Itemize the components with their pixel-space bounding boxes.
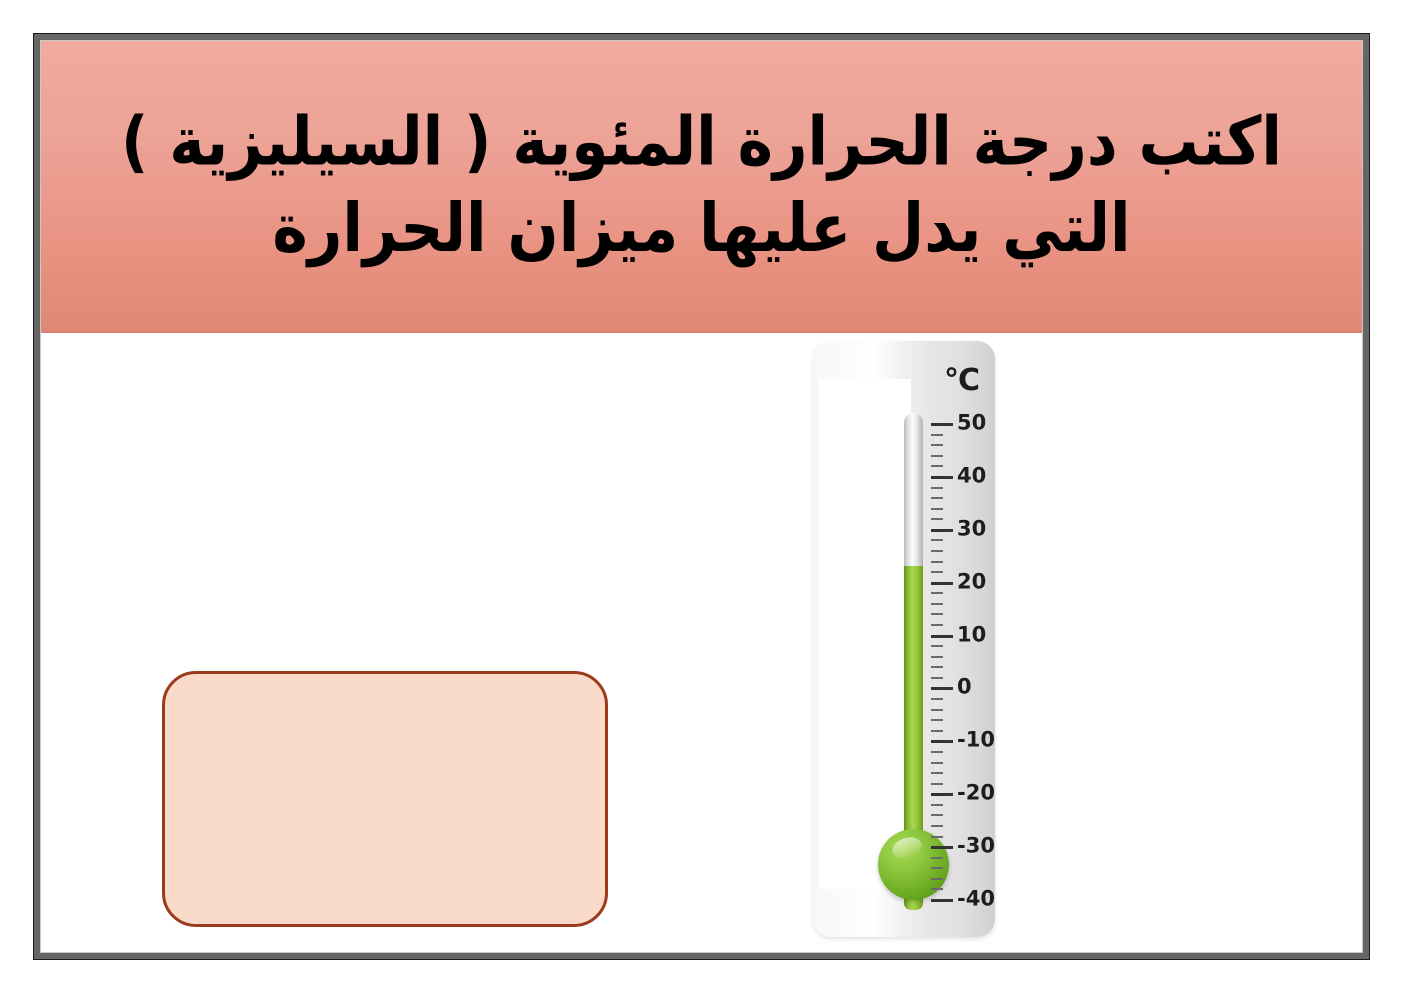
scale-tick-major bbox=[931, 687, 953, 690]
scale-tick-minor bbox=[931, 603, 943, 605]
scale-tick-minor bbox=[931, 645, 943, 647]
scale-tick-major bbox=[931, 476, 953, 479]
scale-tick-minor bbox=[931, 539, 943, 541]
scale-label: 50 bbox=[957, 411, 986, 435]
scale-tick-major bbox=[931, 899, 953, 902]
scale-tick-minor bbox=[931, 561, 943, 563]
scale-tick-minor bbox=[931, 444, 943, 446]
scale-tick-major bbox=[931, 529, 953, 532]
scale-tick-minor bbox=[931, 719, 943, 721]
celsius-unit-label: °C bbox=[944, 363, 979, 398]
scale-tick-minor bbox=[931, 656, 943, 658]
scale-tick-minor bbox=[931, 613, 943, 615]
scale-label: -10 bbox=[957, 728, 995, 752]
scale-tick-minor bbox=[931, 624, 943, 626]
scale-tick-major bbox=[931, 635, 953, 638]
slide-canvas: اكتب درجة الحرارة المئوية ( السيليزية ) … bbox=[40, 40, 1363, 953]
scale-tick-minor bbox=[931, 518, 943, 520]
bulb-highlight bbox=[890, 834, 925, 862]
thermometer-body-panel bbox=[819, 379, 911, 889]
scale-label: 20 bbox=[957, 569, 986, 593]
scale-label: -20 bbox=[957, 781, 995, 805]
scale-tick-minor bbox=[931, 888, 943, 890]
scale-tick-minor bbox=[931, 814, 943, 816]
scale-tick-minor bbox=[931, 508, 943, 510]
answer-input-box[interactable] bbox=[162, 671, 608, 927]
scale-tick-minor bbox=[931, 455, 943, 457]
scale-tick-minor bbox=[931, 497, 943, 499]
scale-tick-minor bbox=[931, 550, 943, 552]
scale-tick-minor bbox=[931, 804, 943, 806]
scale-tick-minor bbox=[931, 571, 943, 573]
answer-box-value bbox=[165, 674, 605, 924]
scale-tick-minor bbox=[931, 751, 943, 753]
header-banner: اكتب درجة الحرارة المئوية ( السيليزية ) … bbox=[41, 41, 1362, 333]
scale-tick-minor bbox=[931, 592, 943, 594]
scale-tick-minor bbox=[931, 434, 943, 436]
scale-label: 10 bbox=[957, 622, 986, 646]
slide-frame: اكتب درجة الحرارة المئوية ( السيليزية ) … bbox=[33, 33, 1370, 960]
page-title: اكتب درجة الحرارة المئوية ( السيليزية ) … bbox=[41, 100, 1362, 272]
scale-tick-minor bbox=[931, 730, 943, 732]
scale-tick-minor bbox=[931, 867, 943, 869]
scale-tick-major bbox=[931, 423, 953, 426]
scale-tick-minor bbox=[931, 783, 943, 785]
scale-label: 40 bbox=[957, 463, 986, 487]
thermometer-illustration: °C 50403020100-10-20-30-40 bbox=[813, 341, 995, 937]
scale-label: 30 bbox=[957, 516, 986, 540]
scale-tick-minor bbox=[931, 825, 943, 827]
scale-tick-major bbox=[931, 740, 953, 743]
scale-tick-major bbox=[931, 793, 953, 796]
scale-tick-minor bbox=[931, 666, 943, 668]
scale-label: -30 bbox=[957, 834, 995, 858]
scale-tick-minor bbox=[931, 878, 943, 880]
scale-tick-minor bbox=[931, 698, 943, 700]
scale-tick-minor bbox=[931, 772, 943, 774]
scale-tick-minor bbox=[931, 857, 943, 859]
scale-tick-minor bbox=[931, 677, 943, 679]
scale-tick-minor bbox=[931, 465, 943, 467]
scale-label: 0 bbox=[957, 675, 972, 699]
scale-tick-major bbox=[931, 582, 953, 585]
scale-tick-major bbox=[931, 846, 953, 849]
scale-tick-minor bbox=[931, 836, 943, 838]
scale-tick-minor bbox=[931, 487, 943, 489]
worksheet-body: °C 50403020100-10-20-30-40 bbox=[41, 333, 1362, 952]
scale-tick-minor bbox=[931, 762, 943, 764]
scale-tick-minor bbox=[931, 709, 943, 711]
scale-label: -40 bbox=[957, 887, 995, 911]
thermometer-scale: 50403020100-10-20-30-40 bbox=[931, 401, 991, 921]
